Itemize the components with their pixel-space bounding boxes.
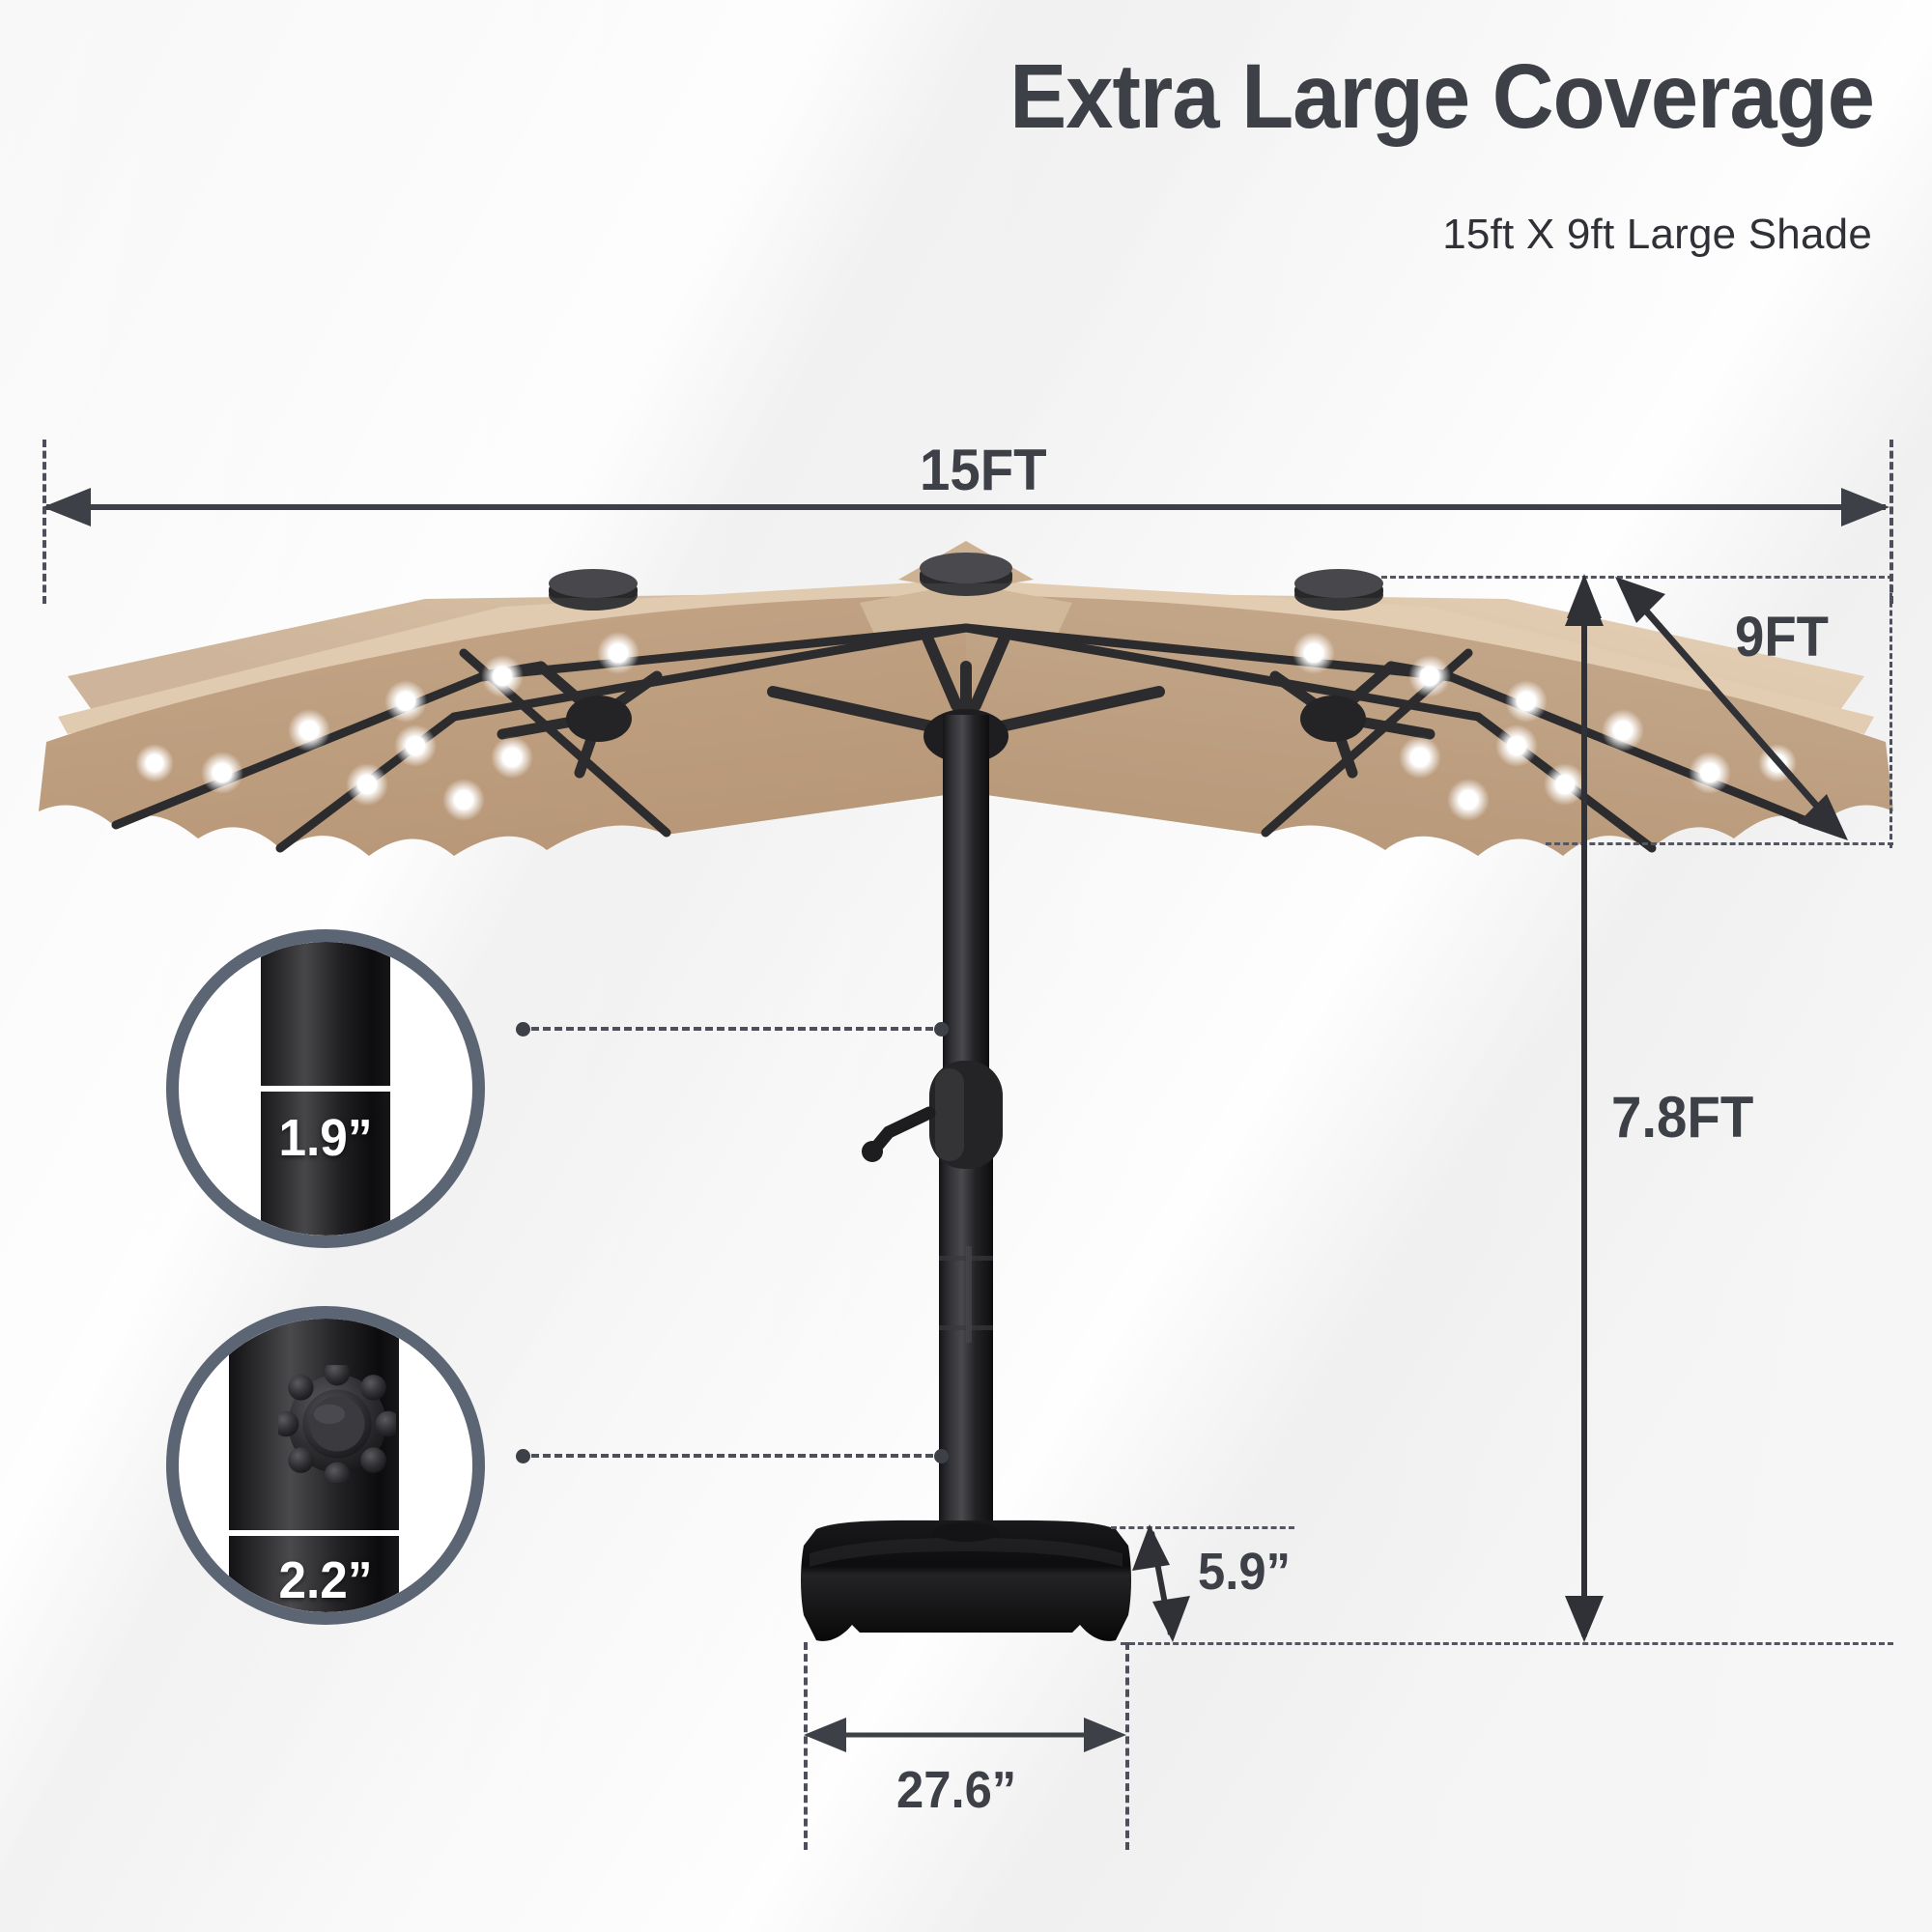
leader-dot-left bbox=[516, 1022, 530, 1037]
callout-inner: 2.2” bbox=[179, 1319, 472, 1612]
extension-line-left bbox=[43, 440, 46, 604]
callout-inner: 1.9” bbox=[179, 942, 472, 1236]
height-guide-bottom bbox=[1121, 1642, 1893, 1645]
depth-guide-top bbox=[1381, 576, 1893, 579]
leader-line-upper-pole bbox=[520, 1027, 945, 1031]
callout-label-upper-pole: 1.9” bbox=[186, 1108, 466, 1168]
arrow-bar bbox=[239, 1086, 412, 1092]
base-width-guide-right bbox=[1125, 1642, 1129, 1850]
crank-handle bbox=[862, 1061, 1003, 1169]
arrow-head-left bbox=[192, 1520, 215, 1546]
arrow-head-left bbox=[217, 1076, 241, 1101]
arrow-bar bbox=[213, 1530, 440, 1536]
arrow-head-right bbox=[438, 1520, 461, 1546]
infographic-canvas: Extra Large Coverage 15ft X 9ft Large Sh… bbox=[0, 0, 1932, 1932]
dimension-label-width: 15FT bbox=[920, 437, 1047, 503]
leader-dot-right bbox=[934, 1022, 949, 1037]
solar-cap-left bbox=[549, 569, 638, 611]
arrow-head-right bbox=[411, 1076, 434, 1101]
dimension-label-depth: 9FT bbox=[1735, 605, 1829, 669]
depth-guide-right bbox=[1889, 576, 1892, 848]
dimension-label-base-width: 27.6” bbox=[896, 1760, 1016, 1820]
callout-lower-pole-diameter[interactable]: 2.2” bbox=[166, 1306, 485, 1625]
callout-label-lower-pole: 2.2” bbox=[186, 1550, 466, 1610]
tension-knob-icon bbox=[278, 1365, 396, 1483]
umbrella-base bbox=[801, 1520, 1131, 1641]
depth-guide-bottom bbox=[1546, 842, 1893, 845]
dimension-label-base-height: 5.9” bbox=[1198, 1542, 1291, 1602]
base-width-guide-left bbox=[804, 1642, 808, 1850]
solar-cap-right bbox=[1294, 569, 1383, 611]
solar-cap-center bbox=[920, 553, 1012, 596]
base-top-guide bbox=[1111, 1526, 1294, 1529]
leader-dot-right bbox=[934, 1449, 949, 1463]
leader-line-lower-pole bbox=[520, 1454, 945, 1458]
callout-upper-pole-diameter[interactable]: 1.9” bbox=[166, 929, 485, 1248]
dimension-label-height: 7.8FT bbox=[1611, 1084, 1753, 1151]
leader-dot-left bbox=[516, 1449, 530, 1463]
